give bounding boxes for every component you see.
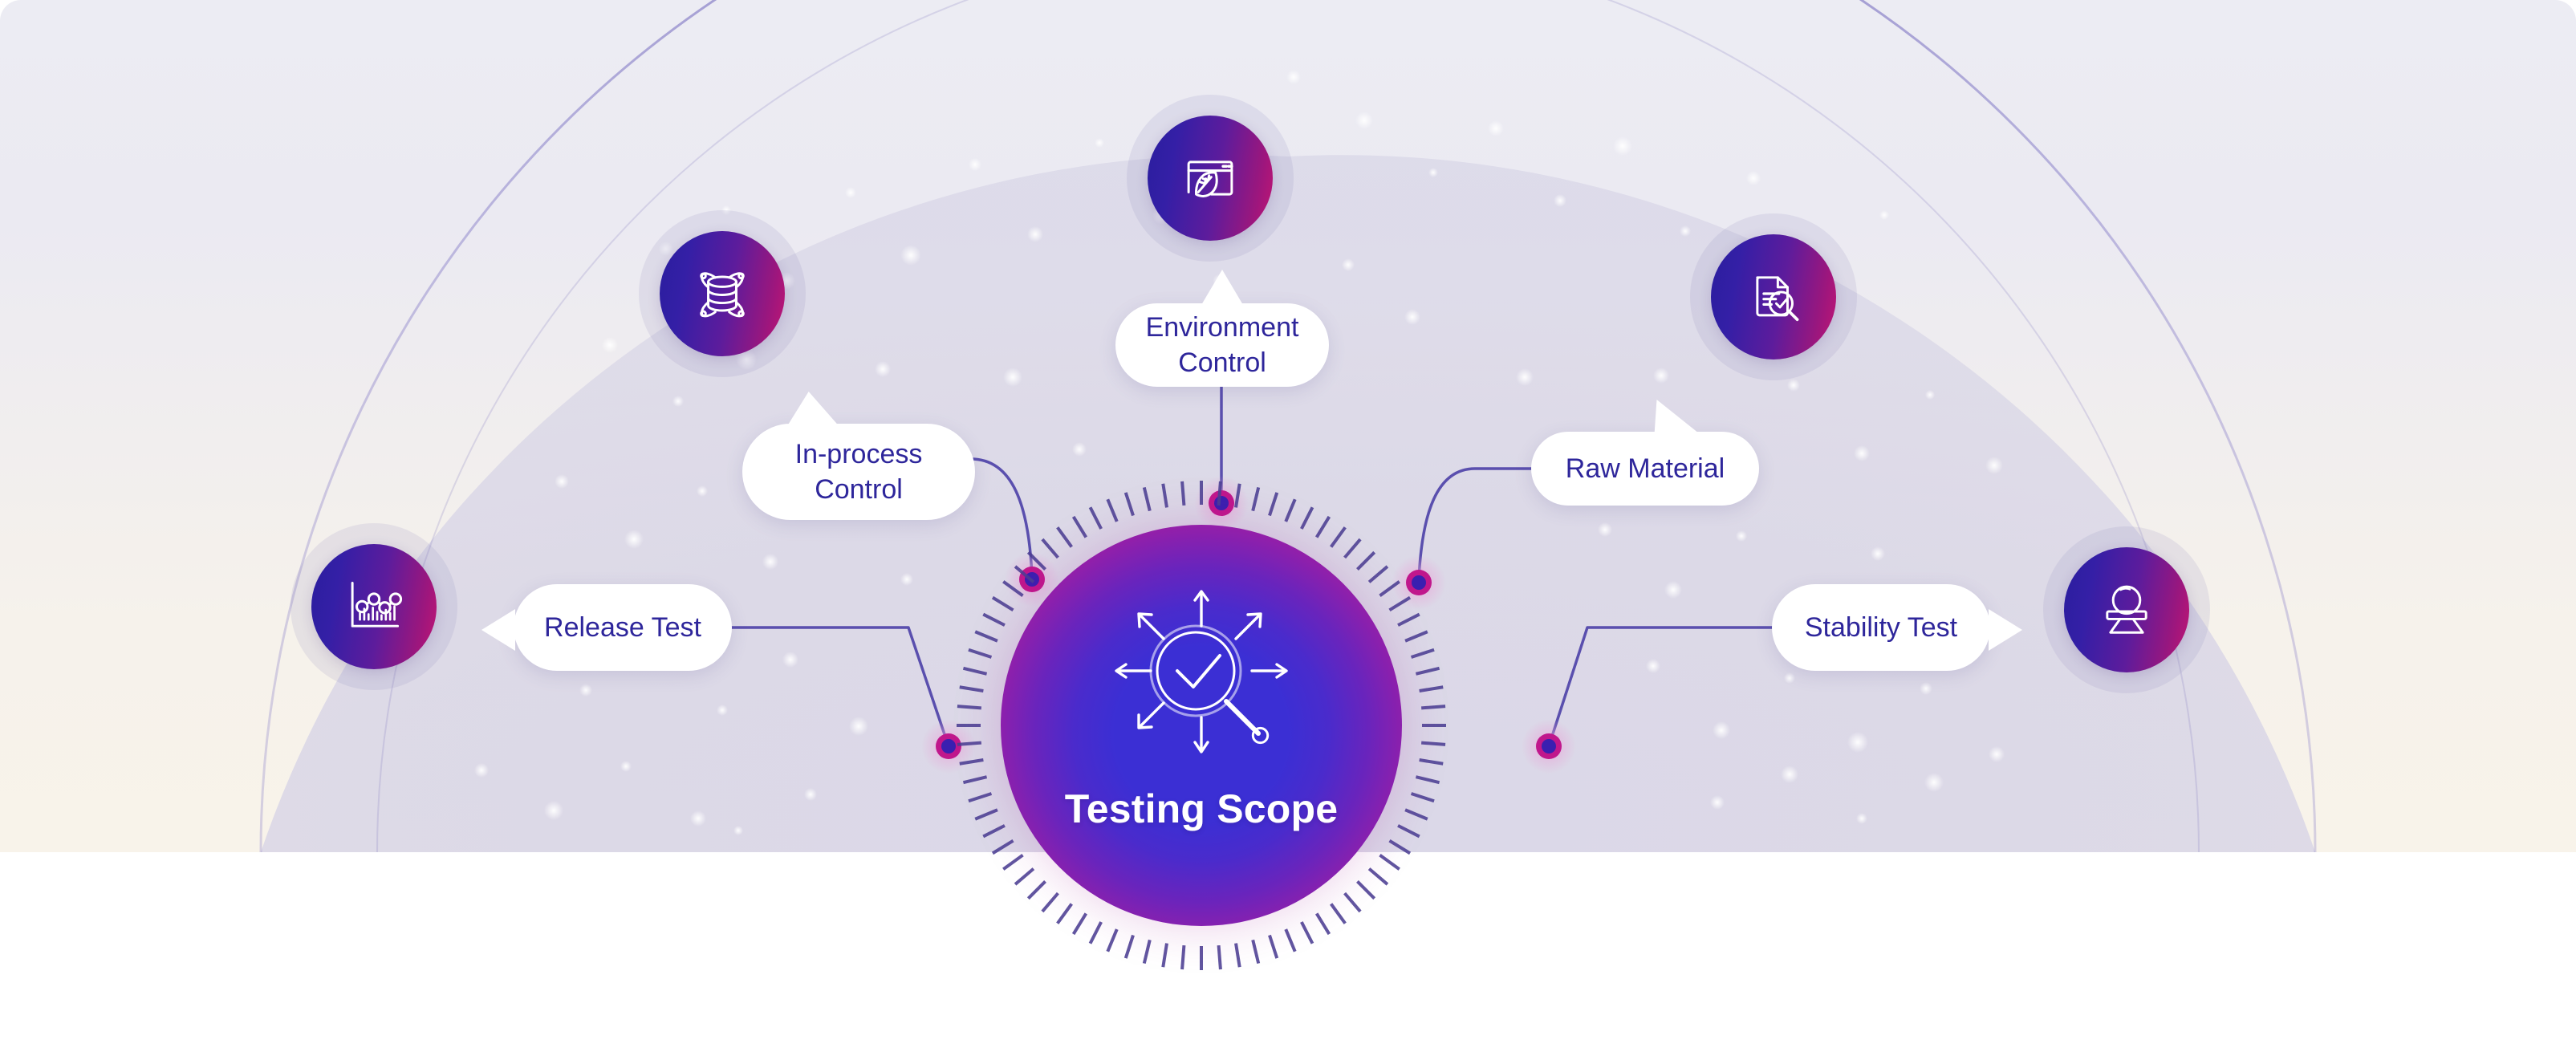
node-disc: [1711, 234, 1836, 359]
node-raw-material[interactable]: [1690, 213, 1857, 380]
node-in-process-control[interactable]: [639, 210, 806, 377]
magnifier-check-expand-icon: [1101, 581, 1302, 766]
label-text-line1: In-process: [795, 437, 923, 472]
label-environment-control[interactable]: Environment Control: [1115, 303, 1329, 387]
label-in-process-control[interactable]: In-process Control: [742, 424, 975, 520]
document-magnifier-check-icon: [1739, 262, 1808, 331]
label-stability-test[interactable]: Stability Test: [1772, 584, 1990, 671]
node-release-test[interactable]: [291, 523, 457, 690]
pill-tail: [1646, 400, 1701, 435]
label-raw-material[interactable]: Raw Material: [1531, 432, 1759, 506]
label-text-line2: Control: [815, 472, 903, 507]
label-text: Raw Material: [1566, 451, 1725, 486]
pill-tail: [1989, 609, 2022, 651]
node-disc: [2064, 547, 2189, 672]
hub-title: Testing Scope: [961, 786, 1442, 832]
label-text: Release Test: [544, 610, 701, 645]
node-environment-control[interactable]: [1127, 95, 1294, 262]
label-release-test[interactable]: Release Test: [514, 584, 732, 671]
pill-tail: [481, 609, 515, 651]
pill-tail: [1201, 270, 1243, 305]
central-hub[interactable]: Testing Scope: [961, 485, 1442, 966]
node-disc: [311, 544, 437, 669]
pill-tail: [786, 392, 847, 427]
database-network-icon: [688, 259, 757, 328]
label-text-line2: Control: [1178, 345, 1266, 380]
label-text: Stability Test: [1805, 610, 1957, 645]
node-disc: [1148, 116, 1273, 241]
label-text-line1: Environment: [1146, 310, 1299, 345]
flask-stand-icon: [2092, 575, 2161, 644]
infographic-canvas: Testing Scope Release Test In-process Co…: [0, 0, 2576, 1056]
node-disc: [660, 231, 785, 356]
node-stability-test[interactable]: [2043, 526, 2210, 693]
browser-leaf-icon: [1176, 144, 1245, 213]
bar-line-chart-icon: [339, 572, 408, 641]
